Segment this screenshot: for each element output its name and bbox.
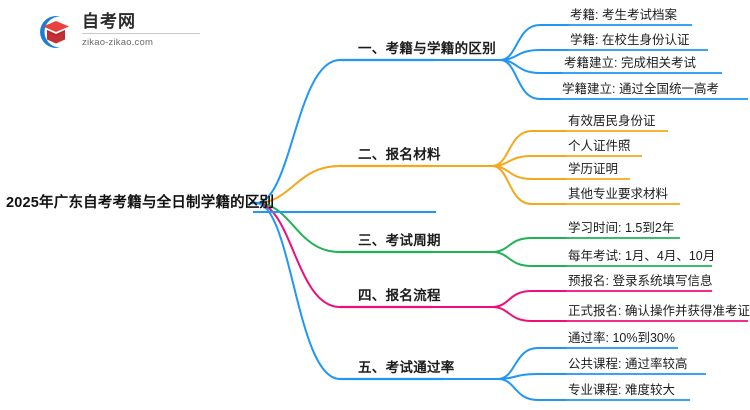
mindmap-leaf-2-1[interactable]: 有效居民身份证 bbox=[568, 113, 656, 131]
link-b3-c1 bbox=[432, 238, 566, 252]
mindmap-leaf-2-3[interactable]: 学历证明 bbox=[568, 161, 618, 179]
mindmap-leaf-3-1[interactable]: 学习时间: 1.5到2年 bbox=[568, 220, 674, 238]
link-b3-c2 bbox=[492, 252, 566, 266]
link-b2-c1 bbox=[432, 131, 566, 166]
mindmap-leaf-3-2[interactable]: 每年考试: 1月、4月、10月 bbox=[568, 248, 715, 266]
mindmap-leaf-4-2[interactable]: 正式报名: 确认操作并获得准考证号 bbox=[568, 303, 750, 321]
link-b2-c4 bbox=[492, 166, 566, 204]
mindmap-leaf-2-4[interactable]: 其他专业要求材料 bbox=[568, 186, 668, 204]
mindmap-leaf-5-2[interactable]: 公共课程: 通过率较高 bbox=[568, 356, 687, 374]
mindmap-leaf-1-2[interactable]: 学籍: 在校生身份认证 bbox=[570, 32, 689, 50]
link-b4-c1 bbox=[432, 291, 566, 307]
mindmap-leaf-1-3[interactable]: 考籍建立: 完成相关考试 bbox=[564, 55, 696, 73]
mindmap-branch-5[interactable]: 五、考试通过率 bbox=[358, 360, 455, 379]
link-b1-c3 bbox=[500, 60, 562, 73]
link-b5-c3 bbox=[498, 379, 566, 400]
link-b4-c2 bbox=[492, 307, 566, 321]
mindmap-branch-2[interactable]: 二、报名材料 bbox=[358, 147, 441, 166]
link-b1-c4 bbox=[500, 60, 560, 99]
mindmap-leaf-4-1[interactable]: 预报名: 登录系统填写信息 bbox=[568, 273, 712, 291]
mindmap-branch-1[interactable]: 一、考籍与学籍的区别 bbox=[358, 41, 496, 60]
mindmap-leaf-1-1[interactable]: 考籍: 考生考试档案 bbox=[570, 7, 677, 25]
mindmap-leaf-1-4[interactable]: 学籍建立: 通过全国统一高考 bbox=[562, 81, 719, 99]
link-root-branch-1 bbox=[256, 60, 436, 203]
mindmap-canvas: 自考网 zikao-zikao.com bbox=[0, 0, 750, 410]
mindmap-branch-4[interactable]: 四、报名流程 bbox=[358, 288, 441, 307]
mindmap-leaf-2-2[interactable]: 个人证件照 bbox=[568, 138, 631, 156]
mindmap-leaf-5-3[interactable]: 专业课程: 难度较大 bbox=[568, 382, 675, 400]
mindmap-branch-3[interactable]: 三、考试周期 bbox=[358, 233, 441, 252]
mindmap-leaf-5-1[interactable]: 通过率: 10%到30% bbox=[568, 330, 675, 348]
mindmap-root-node[interactable]: 2025年广东自考考籍与全日制学籍的区别 bbox=[6, 195, 274, 211]
